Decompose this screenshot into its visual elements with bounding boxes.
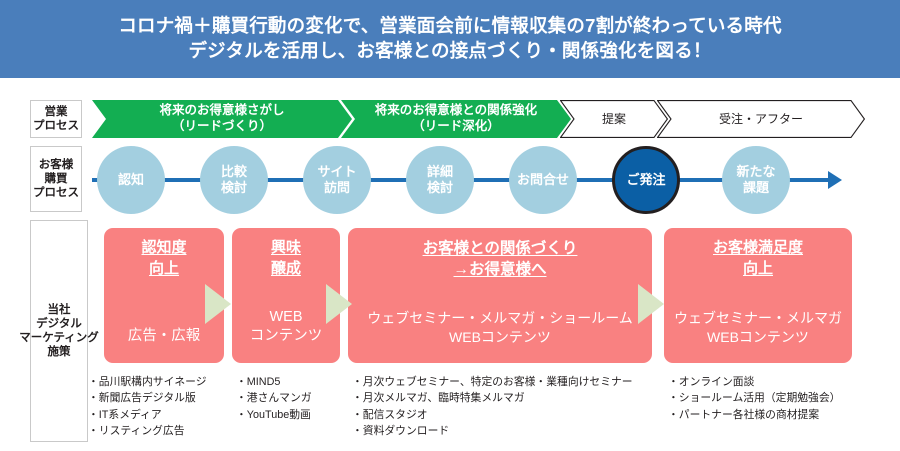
row-label-buying-line-3: プロセス — [33, 186, 79, 200]
measure-box-1-title-line-2: 向上 — [141, 259, 186, 280]
row-label-measures-line-1: 当社 — [19, 303, 99, 317]
list-item: ・ショールーム活用（定期勉強会） — [668, 390, 840, 406]
list-item: ・MIND5 — [236, 374, 312, 390]
row-label-buying-process: お客様 購買 プロセス — [30, 146, 82, 212]
measure-box-2-body-line-2: コンテンツ — [250, 327, 323, 347]
measure-box-2-title-line-2: 醸成 — [271, 259, 301, 280]
buying-step-3-line-2: 訪問 — [317, 180, 356, 196]
row-label-measures-line-2: デジタル — [19, 317, 99, 331]
bullet-list-relationship: ・月次ウェブセミナー、特定のお客様・業種向けセミナー ・月次メルマガ、臨時特集メ… — [352, 374, 633, 440]
list-item: ・パートナー各社様の商材提案 — [668, 407, 840, 423]
sales-stage-3-line-1: 提案 — [602, 112, 626, 127]
measure-box-1-title-line-1: 認知度 — [141, 238, 186, 259]
buying-step-comparison[interactable]: 比較 検討 — [200, 146, 268, 214]
sales-stage-lead-generation[interactable]: 将来のお得意様さがし （リードづくり） — [92, 100, 352, 138]
arrow-right-icon — [205, 284, 231, 324]
buying-step-5-line-1: お問合せ — [517, 172, 569, 188]
list-item: ・資料ダウンロード — [352, 423, 633, 439]
list-item: ・オンライン面談 — [668, 374, 840, 390]
sales-stage-lead-nurturing[interactable]: 将来のお得意様との関係強化 （リード深化） — [341, 100, 571, 138]
list-item: ・月次メルマガ、臨時特集メルマガ — [352, 390, 633, 406]
arrow-right-icon — [828, 171, 842, 189]
buying-step-3-line-1: サイト — [317, 164, 356, 180]
buying-step-inquiry[interactable]: お問合せ — [509, 146, 577, 214]
measure-box-4-title-line-1: お客様満足度 — [713, 238, 803, 259]
row-label-sales-line-1: 営業 — [33, 105, 79, 119]
buying-step-6-line-1: ご発注 — [626, 172, 665, 188]
list-item: ・配信スタジオ — [352, 407, 633, 423]
row-label-measures-line-3: マーケティング — [19, 331, 99, 345]
measure-box-3-body-line-1: ウェブセミナー・メルマガ・ショールーム — [367, 309, 633, 328]
measure-box-satisfaction[interactable]: お客様満足度 向上 ウェブセミナー・メルマガ WEBコンテンツ — [664, 228, 852, 363]
list-item: ・リスティング広告 — [88, 423, 207, 439]
list-item: ・IT系メディア — [88, 407, 207, 423]
buying-step-detailed-review[interactable]: 詳細 検討 — [406, 146, 474, 214]
buying-step-2-line-2: 検討 — [221, 180, 247, 196]
diagram-canvas: コロナ禍＋購買行動の変化で、営業面会前に情報収集の7割が終わっている時代 デジタ… — [0, 0, 900, 451]
list-item: ・月次ウェブセミナー、特定のお客様・業種向けセミナー — [352, 374, 633, 390]
buying-step-new-issue[interactable]: 新たな 課題 — [722, 146, 790, 214]
measure-box-1-body-line-1: 広告・広報 — [128, 327, 201, 347]
measure-box-3-body-line-2: WEBコンテンツ — [367, 328, 633, 347]
row-label-measures-line-4: 施策 — [19, 345, 99, 359]
measure-box-interest[interactable]: 興味 醸成 WEB コンテンツ — [232, 228, 340, 363]
bullet-list-satisfaction: ・オンライン面談 ・ショールーム活用（定期勉強会） ・パートナー各社様の商材提案 — [668, 374, 840, 423]
row-label-sales-line-2: プロセス — [33, 119, 79, 133]
bullet-list-awareness: ・品川駅構内サイネージ ・新聞広告デジタル版 ・IT系メディア ・リスティング広… — [88, 374, 207, 440]
sales-stage-2-line-1: 将来のお得意様との関係強化 — [375, 103, 537, 119]
measure-box-3-title-line-1: お客様との関係づくり — [423, 238, 578, 259]
buying-step-2-line-1: 比較 — [221, 164, 247, 180]
banner-line-2: デジタルを活用し、お客様との接点づくり・関係強化を図る！ — [188, 39, 711, 64]
bullet-list-interest: ・MIND5 ・港さんマンガ ・YouTube動画 — [236, 374, 312, 423]
sales-stage-2-line-2: （リード深化） — [375, 119, 537, 135]
sales-stage-1-line-1: 将来のお得意様さがし — [159, 103, 284, 119]
arrow-right-icon — [326, 284, 352, 324]
buying-step-7-line-2: 課題 — [736, 180, 775, 196]
sales-stage-proposal[interactable]: 提案 — [560, 100, 668, 138]
buying-step-4-line-2: 検討 — [427, 180, 453, 196]
buying-step-7-line-1: 新たな — [736, 164, 775, 180]
measure-box-4-body-line-1: ウェブセミナー・メルマガ — [674, 309, 842, 328]
buying-step-1-line-1: 認知 — [118, 172, 144, 188]
measure-box-relationship[interactable]: お客様との関係づくり →お得意様へ ウェブセミナー・メルマガ・ショールーム WE… — [348, 228, 652, 363]
sales-stage-order-aftercare[interactable]: 受注・アフター — [657, 100, 865, 138]
header-banner: コロナ禍＋購買行動の変化で、営業面会前に情報収集の7割が終わっている時代 デジタ… — [0, 0, 900, 78]
buying-step-4-line-1: 詳細 — [427, 164, 453, 180]
row-label-buying-line-2: 購買 — [33, 172, 79, 186]
list-item: ・品川駅構内サイネージ — [88, 374, 207, 390]
sales-stage-1-line-2: （リードづくり） — [159, 119, 284, 135]
sales-stage-4-line-1: 受注・アフター — [719, 112, 803, 127]
arrow-right-icon — [638, 284, 664, 324]
list-item: ・港さんマンガ — [236, 390, 312, 406]
measure-box-2-title-line-1: 興味 — [271, 238, 301, 259]
list-item: ・YouTube動画 — [236, 407, 312, 423]
measure-box-3-title-line-2: →お得意様へ — [423, 259, 578, 280]
row-label-buying-line-1: お客様 — [33, 158, 79, 172]
measure-box-4-body-line-2: WEBコンテンツ — [674, 328, 842, 347]
buying-step-order[interactable]: ご発注 — [612, 146, 680, 214]
buying-step-awareness[interactable]: 認知 — [97, 146, 165, 214]
list-item: ・新聞広告デジタル版 — [88, 390, 207, 406]
row-label-measures: 当社 デジタル マーケティング 施策 — [30, 220, 88, 442]
row-label-sales-process: 営業 プロセス — [30, 100, 82, 138]
buying-step-site-visit[interactable]: サイト 訪問 — [303, 146, 371, 214]
measure-box-2-body-line-1: WEB — [250, 308, 323, 328]
measure-box-4-title-line-2: 向上 — [713, 259, 803, 280]
banner-line-1: コロナ禍＋購買行動の変化で、営業面会前に情報収集の7割が終わっている時代 — [118, 14, 781, 39]
